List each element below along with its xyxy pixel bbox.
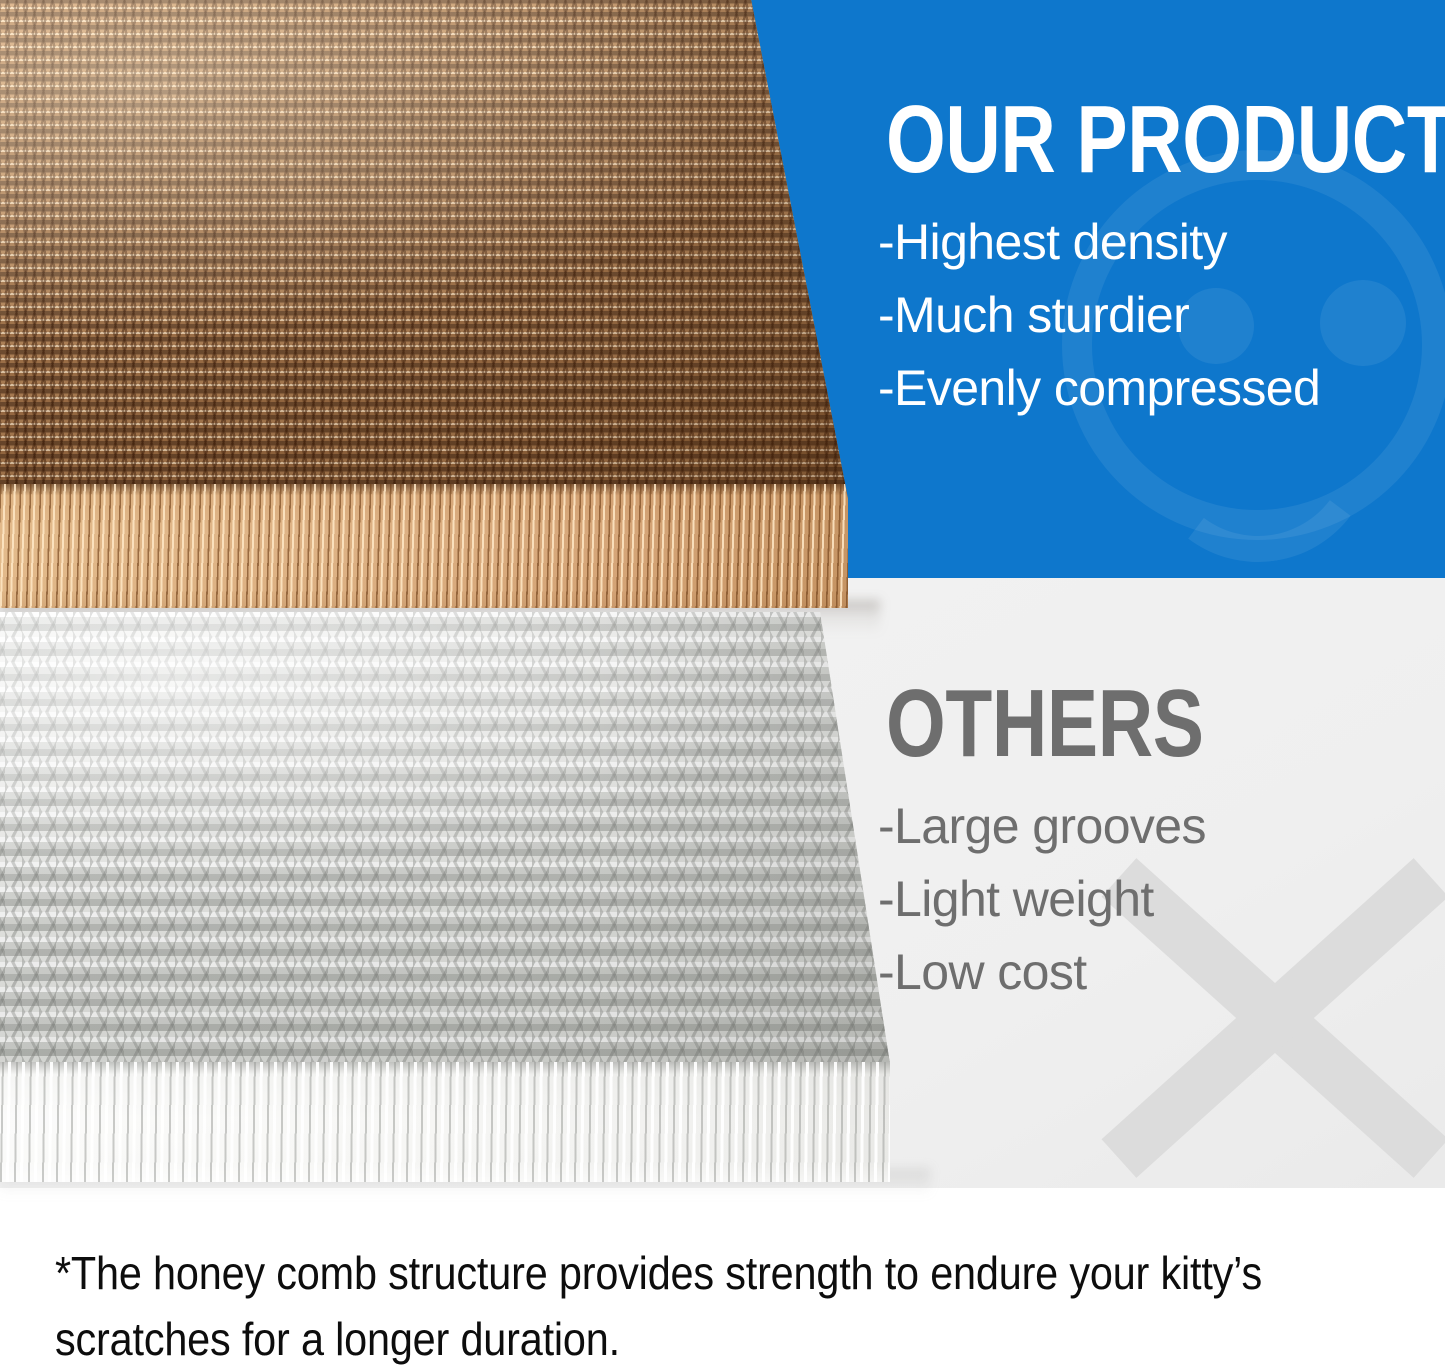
product-board-front-edge bbox=[0, 484, 860, 612]
others-board-front-edge bbox=[0, 1062, 908, 1186]
our-product-heading: OUR PRODUCT bbox=[886, 92, 1445, 188]
our-product-bullet-2: -Much sturdier bbox=[878, 279, 1320, 352]
footnote-text: *The honey comb structure provides stren… bbox=[55, 1240, 1279, 1371]
others-bullet-3: -Low cost bbox=[878, 936, 1206, 1009]
smiley-right-eye-icon bbox=[1320, 280, 1406, 366]
others-bullet-2: -Light weight bbox=[878, 863, 1206, 936]
product-board-top-face bbox=[0, 0, 860, 500]
others-board-image bbox=[0, 612, 908, 1188]
product-board-image bbox=[0, 0, 860, 614]
others-bullet-1: -Large grooves bbox=[878, 790, 1206, 863]
our-product-bullet-3: -Evenly compressed bbox=[878, 352, 1320, 425]
our-product-bullet-1: -Highest density bbox=[878, 206, 1320, 279]
our-product-bullet-list: -Highest density -Much sturdier -Evenly … bbox=[878, 206, 1320, 425]
others-heading: OTHERS bbox=[886, 676, 1204, 772]
infographic-canvas: OUR PRODUCT -Highest density -Much sturd… bbox=[0, 0, 1445, 1371]
others-board-top-face bbox=[0, 612, 908, 1072]
others-bullet-list: -Large grooves -Light weight -Low cost bbox=[878, 790, 1206, 1009]
